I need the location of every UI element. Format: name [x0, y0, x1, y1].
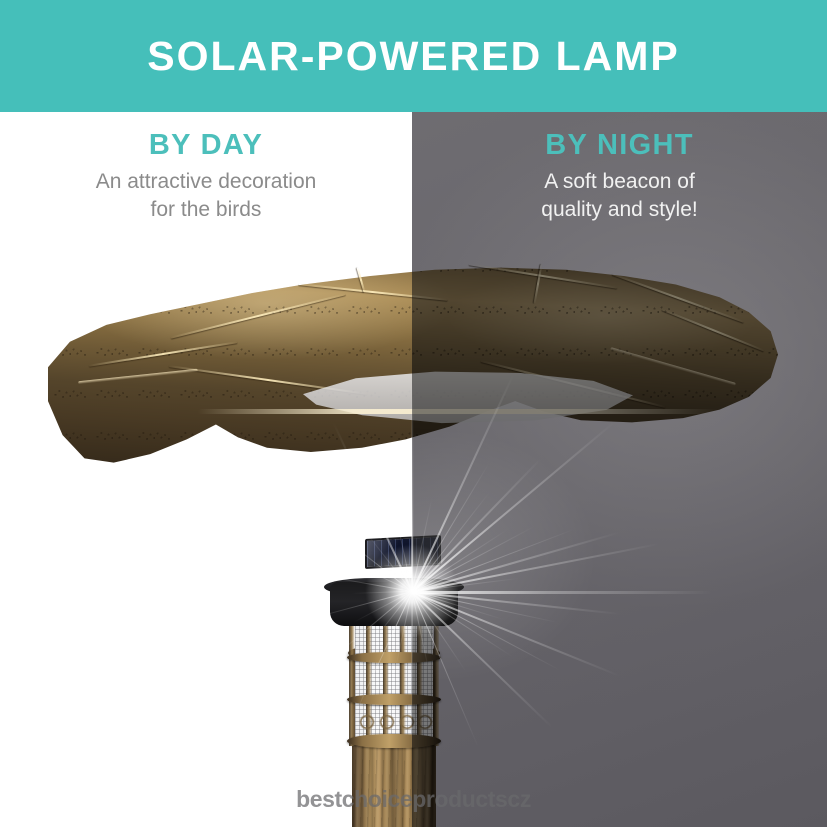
- day-heading: BY DAY: [0, 130, 412, 160]
- day-subtitle-line-1: An attractive decoration: [0, 168, 412, 196]
- night-subtitle-line-1: A soft beacon of: [412, 168, 827, 196]
- night-heading: BY NIGHT: [412, 130, 827, 160]
- day-caption-block: BY DAY An attractive decoration for the …: [0, 130, 412, 224]
- product-poster: BY DAY An attractive decoration for the …: [0, 0, 827, 827]
- night-caption-block: BY NIGHT A soft beacon of quality and st…: [412, 130, 827, 224]
- night-subtitle-line-2: quality and style!: [412, 196, 827, 224]
- day-subtitle-line-2: for the birds: [0, 196, 412, 224]
- page-title: SOLAR-POWERED LAMP: [147, 36, 680, 77]
- header-banner: SOLAR-POWERED LAMP: [0, 0, 827, 112]
